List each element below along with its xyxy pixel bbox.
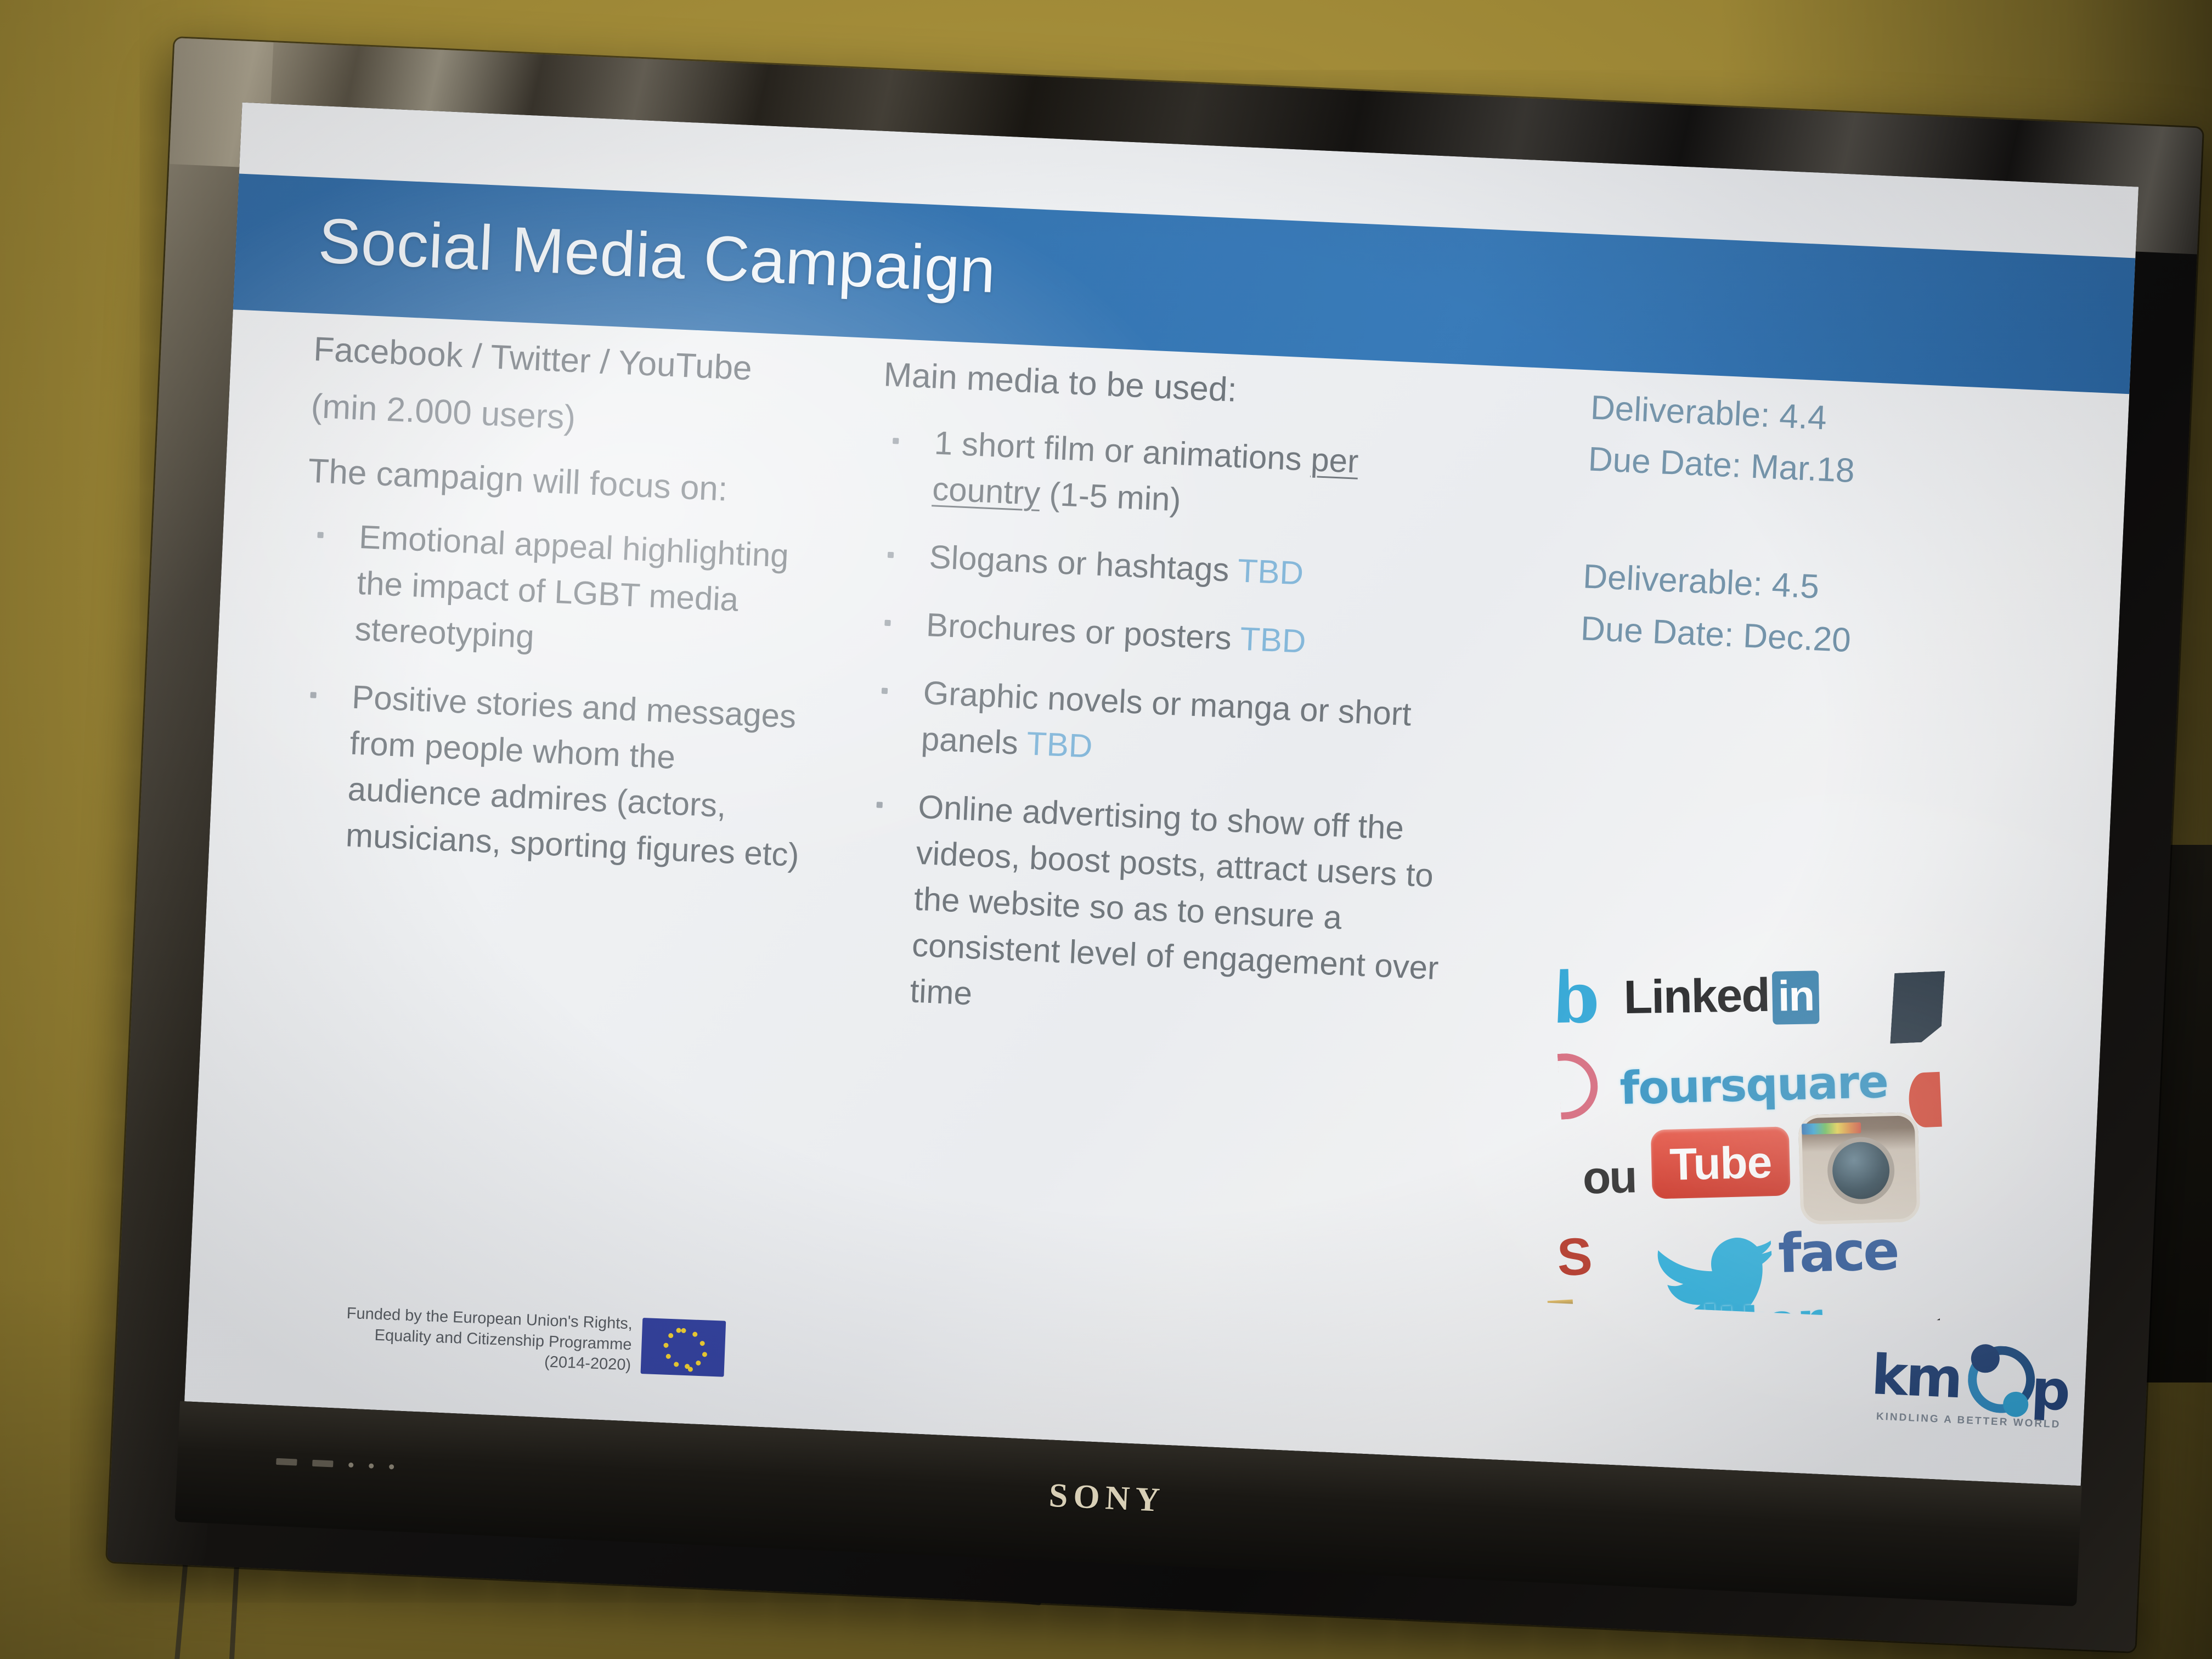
television: Social Media Campaign Facebook / Twitter… <box>107 38 2203 1652</box>
tv-led-dot-2 <box>369 1463 374 1468</box>
bullet-text-before: 1 short film or animations <box>934 424 1312 477</box>
page-title: Social Media Campaign <box>317 204 997 307</box>
instagram-rainbow-stripe <box>1802 1122 1861 1135</box>
linkedin-wordmark: Linked <box>1623 969 1770 1024</box>
list-item: Graphic novels or manga or short panels … <box>866 668 1451 786</box>
right-column: Deliverable: 4.4 Due Date: Mar.18 Delive… <box>1579 382 2085 676</box>
bullet-text-before: Slogans or hashtags <box>928 538 1238 589</box>
presentation-slide: Social Media Campaign Facebook / Twitter… <box>184 103 2138 1486</box>
tv-screen: Social Media Campaign Facebook / Twitter… <box>184 103 2138 1486</box>
list-item: 1 short film or animations per country (… <box>878 417 1463 535</box>
left-column-intro: The campaign will focus on: <box>307 447 825 518</box>
tv-led-dot-1 <box>348 1462 353 1467</box>
youtube-you-text: ou <box>1582 1150 1637 1204</box>
kmop-p-text: p <box>2030 1357 2072 1423</box>
list-item: Emotional appeal highlighting the impact… <box>300 512 821 673</box>
middle-column: Main media to be used: 1 short film or a… <box>854 351 1465 1059</box>
youtube-icon: Tube <box>1651 1126 1791 1199</box>
left-column-bullet-list: Emotional appeal highlighting the impact… <box>291 512 822 879</box>
middle-column-bullet-list: 1 short film or animations per country (… <box>855 417 1463 1037</box>
linkedin-icon: Linkedin <box>1623 967 1820 1027</box>
status-badge: TBD <box>1237 552 1305 591</box>
status-badge: TBD <box>1239 620 1307 660</box>
middle-column-heading: Main media to be used: <box>883 351 1466 425</box>
instagram-lens <box>1832 1141 1891 1200</box>
bullet-text-after: (1-5 min) <box>1040 475 1182 518</box>
tv-led-rect-1 <box>276 1458 297 1466</box>
decorative-arc-icon <box>1558 1052 1600 1120</box>
tv-led-dot-3 <box>389 1464 394 1469</box>
sony-brand-logo: SONY <box>1048 1476 1166 1520</box>
left-column: Facebook / Twitter / YouTube (min 2.000 … <box>290 325 830 901</box>
eu-flag-icon <box>641 1318 726 1377</box>
social-media-logo-collage: b Linkedin foursquare ou Tube S <box>1545 952 1956 1320</box>
eu-funding-footer: Funded by the European Union's Rights, E… <box>324 1302 765 1381</box>
youtube-tube-text: Tube <box>1651 1136 1790 1191</box>
foursquare-icon: foursquare <box>1619 1056 1888 1115</box>
status-badge: TBD <box>1026 725 1093 764</box>
decorative-shape-icon <box>1890 971 1945 1043</box>
bullet-text-before: Graphic novels or manga or short panels <box>921 674 1412 761</box>
kmop-km-text: km <box>1870 1342 1962 1410</box>
kmop-logo: km p KINDLING A BETTER WORLD <box>1864 1328 2104 1443</box>
tv-indicator-leds <box>276 1458 394 1470</box>
eu-funding-text: Funded by the European Union's Rights, E… <box>324 1302 633 1376</box>
bullet-text-before: Brochures or posters <box>926 606 1241 657</box>
room-scene: Social Media Campaign Facebook / Twitter… <box>0 0 2212 1659</box>
skype-s-icon: S <box>1556 1226 1594 1288</box>
list-item: Slogans or hashtags TBD <box>874 532 1458 603</box>
linkedin-in-badge: in <box>1772 970 1820 1024</box>
list-item: Positive stories and messages from peopl… <box>291 672 815 878</box>
decorative-pencil-icon <box>1548 1300 1576 1321</box>
facebook-icon: face <box>1778 1220 1898 1285</box>
list-item: Online advertising to show off the video… <box>855 781 1447 1037</box>
decorative-triangle-icon <box>1879 1316 1947 1321</box>
bullet-text-before: Online advertising to show off the video… <box>909 788 1439 1012</box>
list-item: Brochures or posters TBD <box>872 600 1455 672</box>
tv-led-rect-2 <box>312 1460 333 1468</box>
instagram-icon <box>1798 1112 1921 1224</box>
